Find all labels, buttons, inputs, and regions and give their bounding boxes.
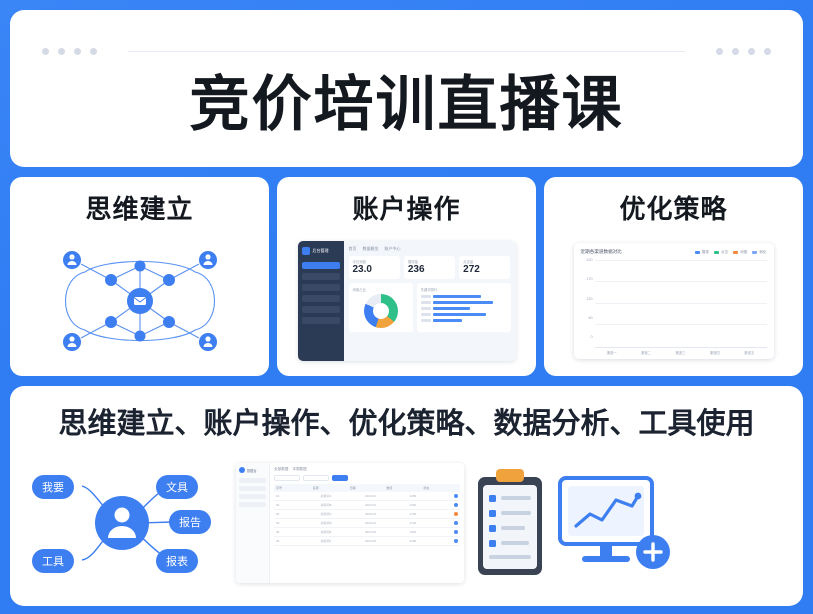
decor-dots-left	[42, 48, 97, 55]
kpi-value: 272	[463, 264, 506, 276]
mindmap-node[interactable]: 报告	[169, 510, 211, 534]
network-diagram-icon	[25, 236, 255, 366]
decor-line	[128, 51, 685, 52]
chart-x-axis: 渠道一 渠道二 渠道三 渠道四 渠道五	[581, 350, 767, 355]
kpi-card: 点击量 272	[459, 256, 510, 279]
legend-item: 消费	[733, 250, 747, 255]
dashboard-nav-item[interactable]	[302, 306, 340, 313]
table-row[interactable]: 05关键词E 2023-051540	[274, 528, 460, 537]
dashboard-nav-item[interactable]	[302, 284, 340, 291]
dashboard-sidebar: 后台管理	[298, 241, 344, 361]
table-row[interactable]: 04关键词D 2023-042720	[274, 519, 460, 528]
dashboard-topbar-item[interactable]: 数据概览	[363, 246, 379, 252]
y-tick: 60	[581, 316, 593, 320]
dashboard-lower: 消费占比 关键词排行	[349, 283, 511, 332]
table-header-cell: 序号	[276, 486, 311, 490]
kpi-value: 236	[408, 264, 451, 276]
bar-list-card: 关键词排行	[417, 283, 511, 332]
table-header-cell: 状态	[423, 486, 458, 490]
data-table-mock: 数据台 全部数据 本周数据	[236, 463, 464, 583]
feature-card-account: 账户操作 后台管理	[277, 177, 536, 376]
kpi-card: 展现量 236	[404, 256, 455, 279]
table-sidebar: 数据台	[236, 463, 270, 583]
dashboard-nav-item[interactable]	[302, 317, 340, 324]
bottom-illustration-row: 我要 文具 报告 工具 报表 数据台 全部数据 本周数据	[26, 450, 787, 596]
legend-item: 点击	[714, 250, 728, 255]
decor-dots-right	[716, 48, 771, 55]
feature-card-title: 优化策略	[619, 189, 727, 226]
dashboard-logo: 后台管理	[302, 247, 340, 255]
mindmap-node[interactable]: 报表	[156, 549, 198, 573]
dashboard-illustration: 后台管理 首页 数据概览 账户中心	[277, 226, 536, 376]
monitor-line-chart-icon	[556, 470, 674, 576]
mindmap-node[interactable]: 文具	[156, 475, 198, 499]
table-row[interactable]: 02关键词B 2023-022360	[274, 501, 460, 510]
table-tab[interactable]: 全部数据	[274, 467, 288, 472]
chart-plot: 220 170 120 60 0	[581, 258, 767, 348]
dashboard-nav-item[interactable]	[302, 295, 340, 302]
status-dot	[454, 539, 458, 543]
table-header-cell: 数值	[386, 486, 421, 490]
table-nav-item[interactable]	[239, 478, 266, 483]
donut-chart-card: 消费占比	[349, 283, 413, 332]
y-tick: 220	[581, 258, 593, 262]
clipboard-checklist-icon	[474, 467, 546, 579]
x-tick: 渠道三	[665, 350, 695, 355]
status-dot	[454, 503, 458, 507]
network-diagram-illustration	[10, 226, 269, 376]
donut-chart	[364, 294, 398, 328]
bar-chart-illustration: 近期各渠道数据对比 展现 点击 消费 转化 220 170 120	[544, 226, 803, 376]
status-dot	[454, 512, 458, 516]
feature-card-thinking: 思维建立	[10, 177, 269, 376]
dashboard-nav-item[interactable]	[302, 273, 340, 280]
bar-list-row	[421, 301, 507, 304]
dashboard-topbar: 首页 数据概览 账户中心	[349, 246, 511, 252]
x-tick: 渠道四	[700, 350, 730, 355]
chart-header: 近期各渠道数据对比 展现 点击 消费 转化	[581, 249, 767, 255]
y-tick: 0	[581, 335, 593, 339]
dashboard-kpi-row: 今日消费 23.0 展现量 236 点击量 272	[349, 256, 511, 279]
chart-title: 近期各渠道数据对比	[581, 249, 622, 255]
feature-card-optimization: 优化策略 近期各渠道数据对比 展现 点击 消费 转化 220	[544, 177, 803, 376]
x-tick: 渠道一	[597, 350, 627, 355]
bar-chart-card: 近期各渠道数据对比 展现 点击 消费 转化 220 170 120	[574, 243, 774, 359]
clipboard-illustration	[474, 467, 546, 579]
feature-card-title: 思维建立	[85, 189, 193, 226]
x-tick: 渠道二	[631, 350, 661, 355]
dashboard-topbar-item[interactable]: 账户中心	[385, 246, 401, 252]
search-input[interactable]	[274, 475, 300, 481]
table-nav-item[interactable]	[239, 502, 266, 507]
table-header-cell: 名称	[313, 486, 348, 490]
status-dot	[454, 521, 458, 525]
bar-list-title: 关键词排行	[421, 287, 507, 292]
chart-bars	[595, 258, 767, 347]
mindmap-illustration: 我要 文具 报告 工具 报表	[26, 464, 226, 582]
header-card: 竞价培训直播课	[10, 10, 803, 167]
feature-card-row: 思维建立	[10, 177, 803, 376]
dashboard-topbar-item[interactable]: 首页	[349, 246, 357, 252]
legend-item: 展现	[695, 250, 709, 255]
donut-chart-title: 消费占比	[353, 287, 409, 292]
chart-y-axis: 220 170 120 60 0	[581, 258, 595, 348]
status-dot	[454, 530, 458, 534]
chart-legend: 展现 点击 消费 转化	[695, 250, 767, 255]
table-row[interactable]: 03关键词C 2023-031760	[274, 510, 460, 519]
dashboard-nav-item[interactable]	[302, 262, 340, 269]
kpi-value: 23.0	[353, 264, 396, 276]
kpi-card: 今日消费 23.0	[349, 256, 400, 279]
table-nav-item[interactable]	[239, 486, 266, 491]
chart-grid	[595, 258, 767, 348]
search-button[interactable]	[332, 475, 348, 481]
bar-list-row	[421, 307, 507, 310]
poster: 竞价培训直播课 思维建立	[0, 0, 813, 614]
table-logo: 数据台	[239, 467, 266, 473]
y-tick: 120	[581, 297, 593, 301]
filter-select[interactable]	[303, 475, 329, 481]
monitor-illustration	[556, 470, 674, 576]
bar-list-row	[421, 313, 507, 316]
table-filter-row	[274, 475, 460, 481]
bar-list-row	[421, 319, 507, 322]
table-header-row: 序号 名称 日期 数值 状态	[274, 484, 460, 492]
table-tabs: 全部数据 本周数据	[274, 467, 460, 472]
table-row[interactable]: 01关键词A 2023-011280	[274, 492, 460, 501]
page-title: 竞价培训直播课	[190, 56, 624, 143]
table-main: 全部数据 本周数据 序号 名称 日期 数值 状态	[270, 463, 464, 583]
table-row[interactable]: 06关键词F 2023-063180	[274, 537, 460, 546]
legend-item: 转化	[752, 250, 766, 255]
mindmap-node[interactable]: 我要	[32, 475, 74, 499]
dashboard-mock: 后台管理 首页 数据概览 账户中心	[298, 241, 516, 361]
mindmap-node[interactable]: 工具	[32, 549, 74, 573]
bottom-card: 思维建立、账户操作、优化策略、数据分析、工具使用 我要	[10, 386, 803, 606]
table-nav-item[interactable]	[239, 494, 266, 499]
table-header-cell: 日期	[350, 486, 385, 490]
feature-card-title: 账户操作	[352, 189, 460, 226]
y-tick: 170	[581, 277, 593, 281]
dashboard-main: 首页 数据概览 账户中心 今日消费 23.0 展现量 236	[344, 241, 516, 361]
status-dot	[454, 494, 458, 498]
bar-list-row	[421, 295, 507, 298]
bottom-headline: 思维建立、账户操作、优化策略、数据分析、工具使用	[26, 400, 787, 442]
table-tab[interactable]: 本周数据	[292, 467, 306, 472]
x-tick: 渠道五	[734, 350, 764, 355]
